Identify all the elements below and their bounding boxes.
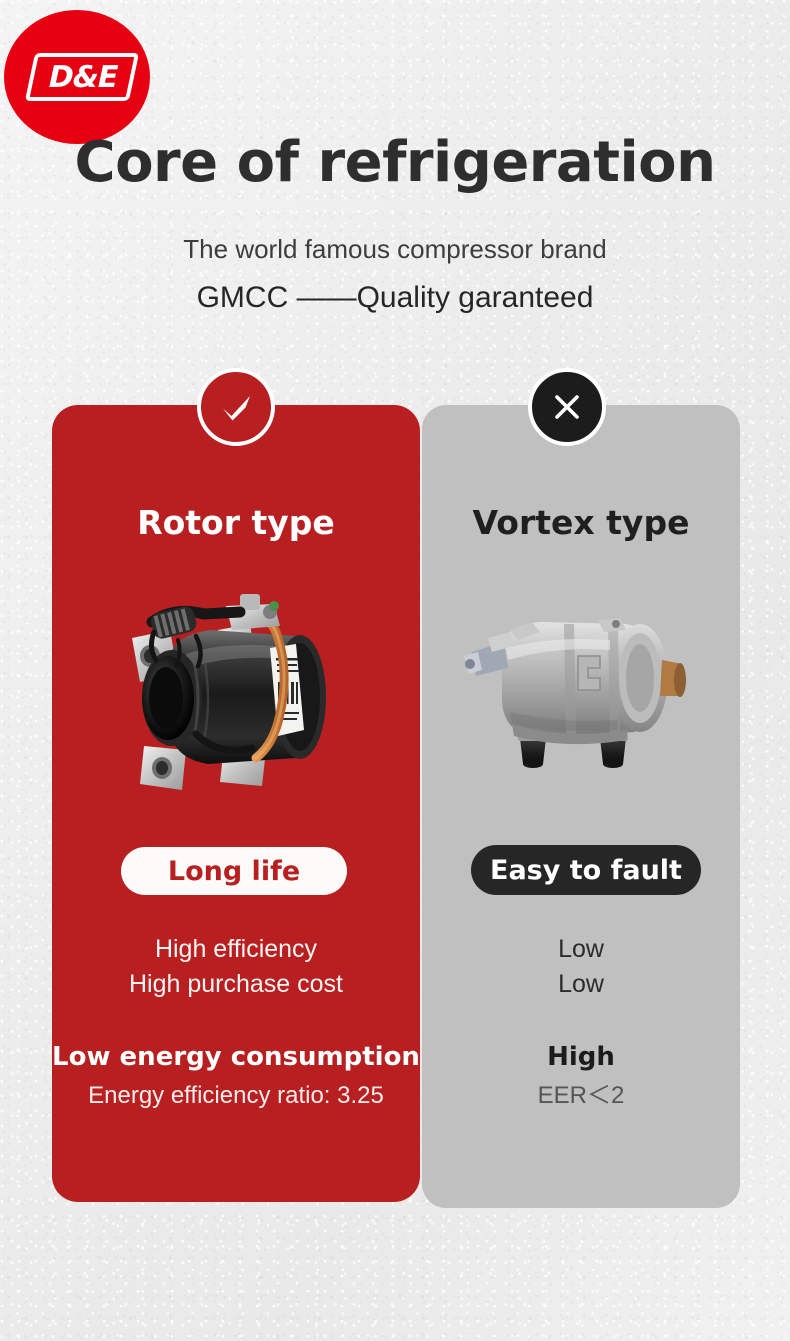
product-image-scroll xyxy=(458,598,708,788)
subtitle-secondary: GMCC ——Quality garanteed xyxy=(0,281,790,315)
pill-label-good: Long life xyxy=(121,847,347,895)
feature-line: High efficiency xyxy=(52,932,420,967)
feature-lines-bad: Low Low xyxy=(422,932,740,1001)
energy-detail: Energy efficiency ratio: 3.25 xyxy=(52,1079,420,1114)
energy-detail: EER＜2 xyxy=(422,1079,740,1114)
check-badge xyxy=(197,368,275,446)
logo-text: D&E xyxy=(25,53,139,101)
brand-logo: D&E xyxy=(4,10,150,144)
energy-highlight: High xyxy=(422,1042,740,1073)
check-icon xyxy=(214,385,258,429)
page-title: Core of refrigeration xyxy=(0,134,790,191)
energy-highlight: Low energy consumption xyxy=(52,1042,420,1073)
logo-mark: D&E xyxy=(30,53,134,101)
feature-line: High purchase cost xyxy=(52,967,420,1002)
feature-lines-good: High efficiency High purchase cost xyxy=(52,932,420,1001)
cross-badge xyxy=(528,368,606,446)
energy-block-bad: High EER＜2 xyxy=(422,1042,740,1114)
subtitle-primary: The world famous compressor brand xyxy=(0,234,790,265)
cross-icon xyxy=(546,386,588,428)
pill-label-bad: Easy to fault xyxy=(471,845,701,895)
energy-block-good: Low energy consumption Energy efficiency… xyxy=(52,1042,420,1114)
feature-line: Low xyxy=(422,932,740,967)
card-title-good: Rotor type xyxy=(52,503,420,542)
infographic-page: D&E Core of refrigeration The world famo… xyxy=(0,0,790,1341)
card-title-bad: Vortex type xyxy=(422,503,740,542)
feature-line: Low xyxy=(422,967,740,1002)
product-image-rotary xyxy=(100,578,375,808)
